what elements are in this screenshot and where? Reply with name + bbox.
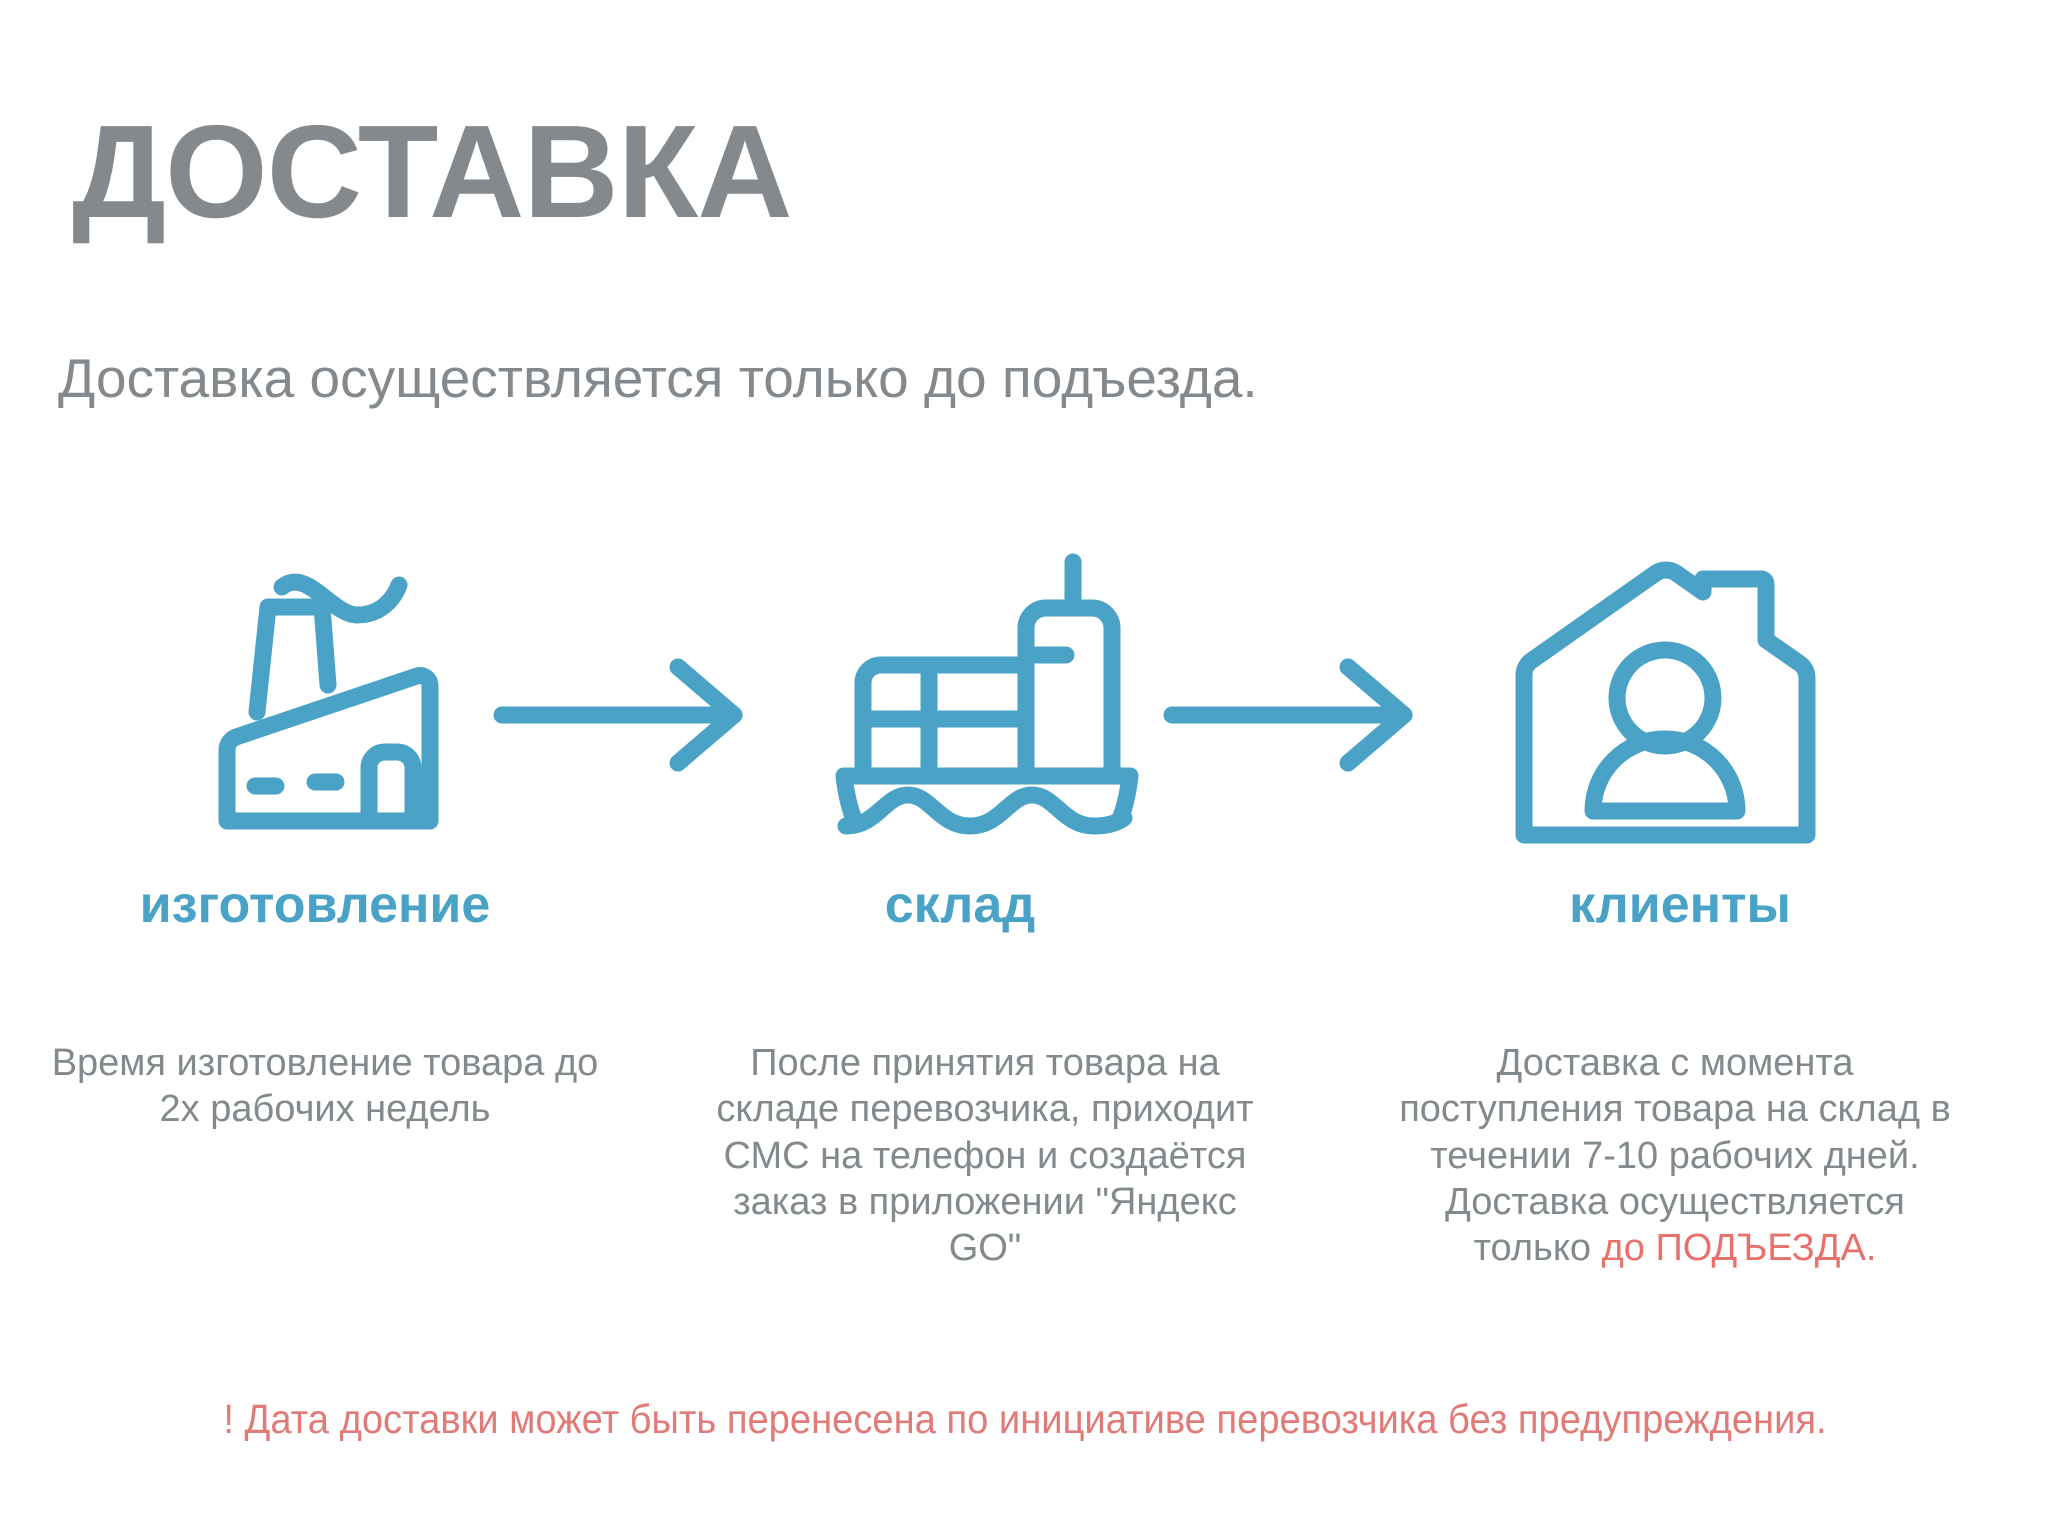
arrow-right-icon <box>1160 655 1430 775</box>
stage-description-clients: Доставка с момента поступления товара на… <box>1390 1040 1960 1272</box>
stage-label-manufacturing: изготовление <box>35 875 595 935</box>
page-subtitle: Доставка осуществляется только до подъез… <box>58 345 1358 412</box>
delivery-infographic-slide: ДОСТАВКА Доставка осуществляется только … <box>0 0 2048 1536</box>
cargo-ship-icon <box>815 540 1155 850</box>
stage-description-warehouse: После принятия товара на складе перевозч… <box>700 1040 1270 1272</box>
delivery-date-warning: ! Дата доставки может быть перенесена по… <box>183 1395 1866 1443</box>
arrow-right-icon <box>490 655 760 775</box>
stage-description-manufacturing: Время изготовление товара до 2х рабочих … <box>40 1040 610 1133</box>
page-title: ДОСТАВКА <box>72 106 792 238</box>
stage-description-clients-emphasis: до ПОДЪЕЗДА. <box>1602 1227 1877 1269</box>
factory-icon <box>145 540 485 850</box>
house-client-icon <box>1495 540 1835 850</box>
delivery-flow-diagram <box>0 540 2048 880</box>
stage-label-warehouse: склад <box>680 875 1240 935</box>
stage-label-clients: клиенты <box>1400 875 1960 935</box>
